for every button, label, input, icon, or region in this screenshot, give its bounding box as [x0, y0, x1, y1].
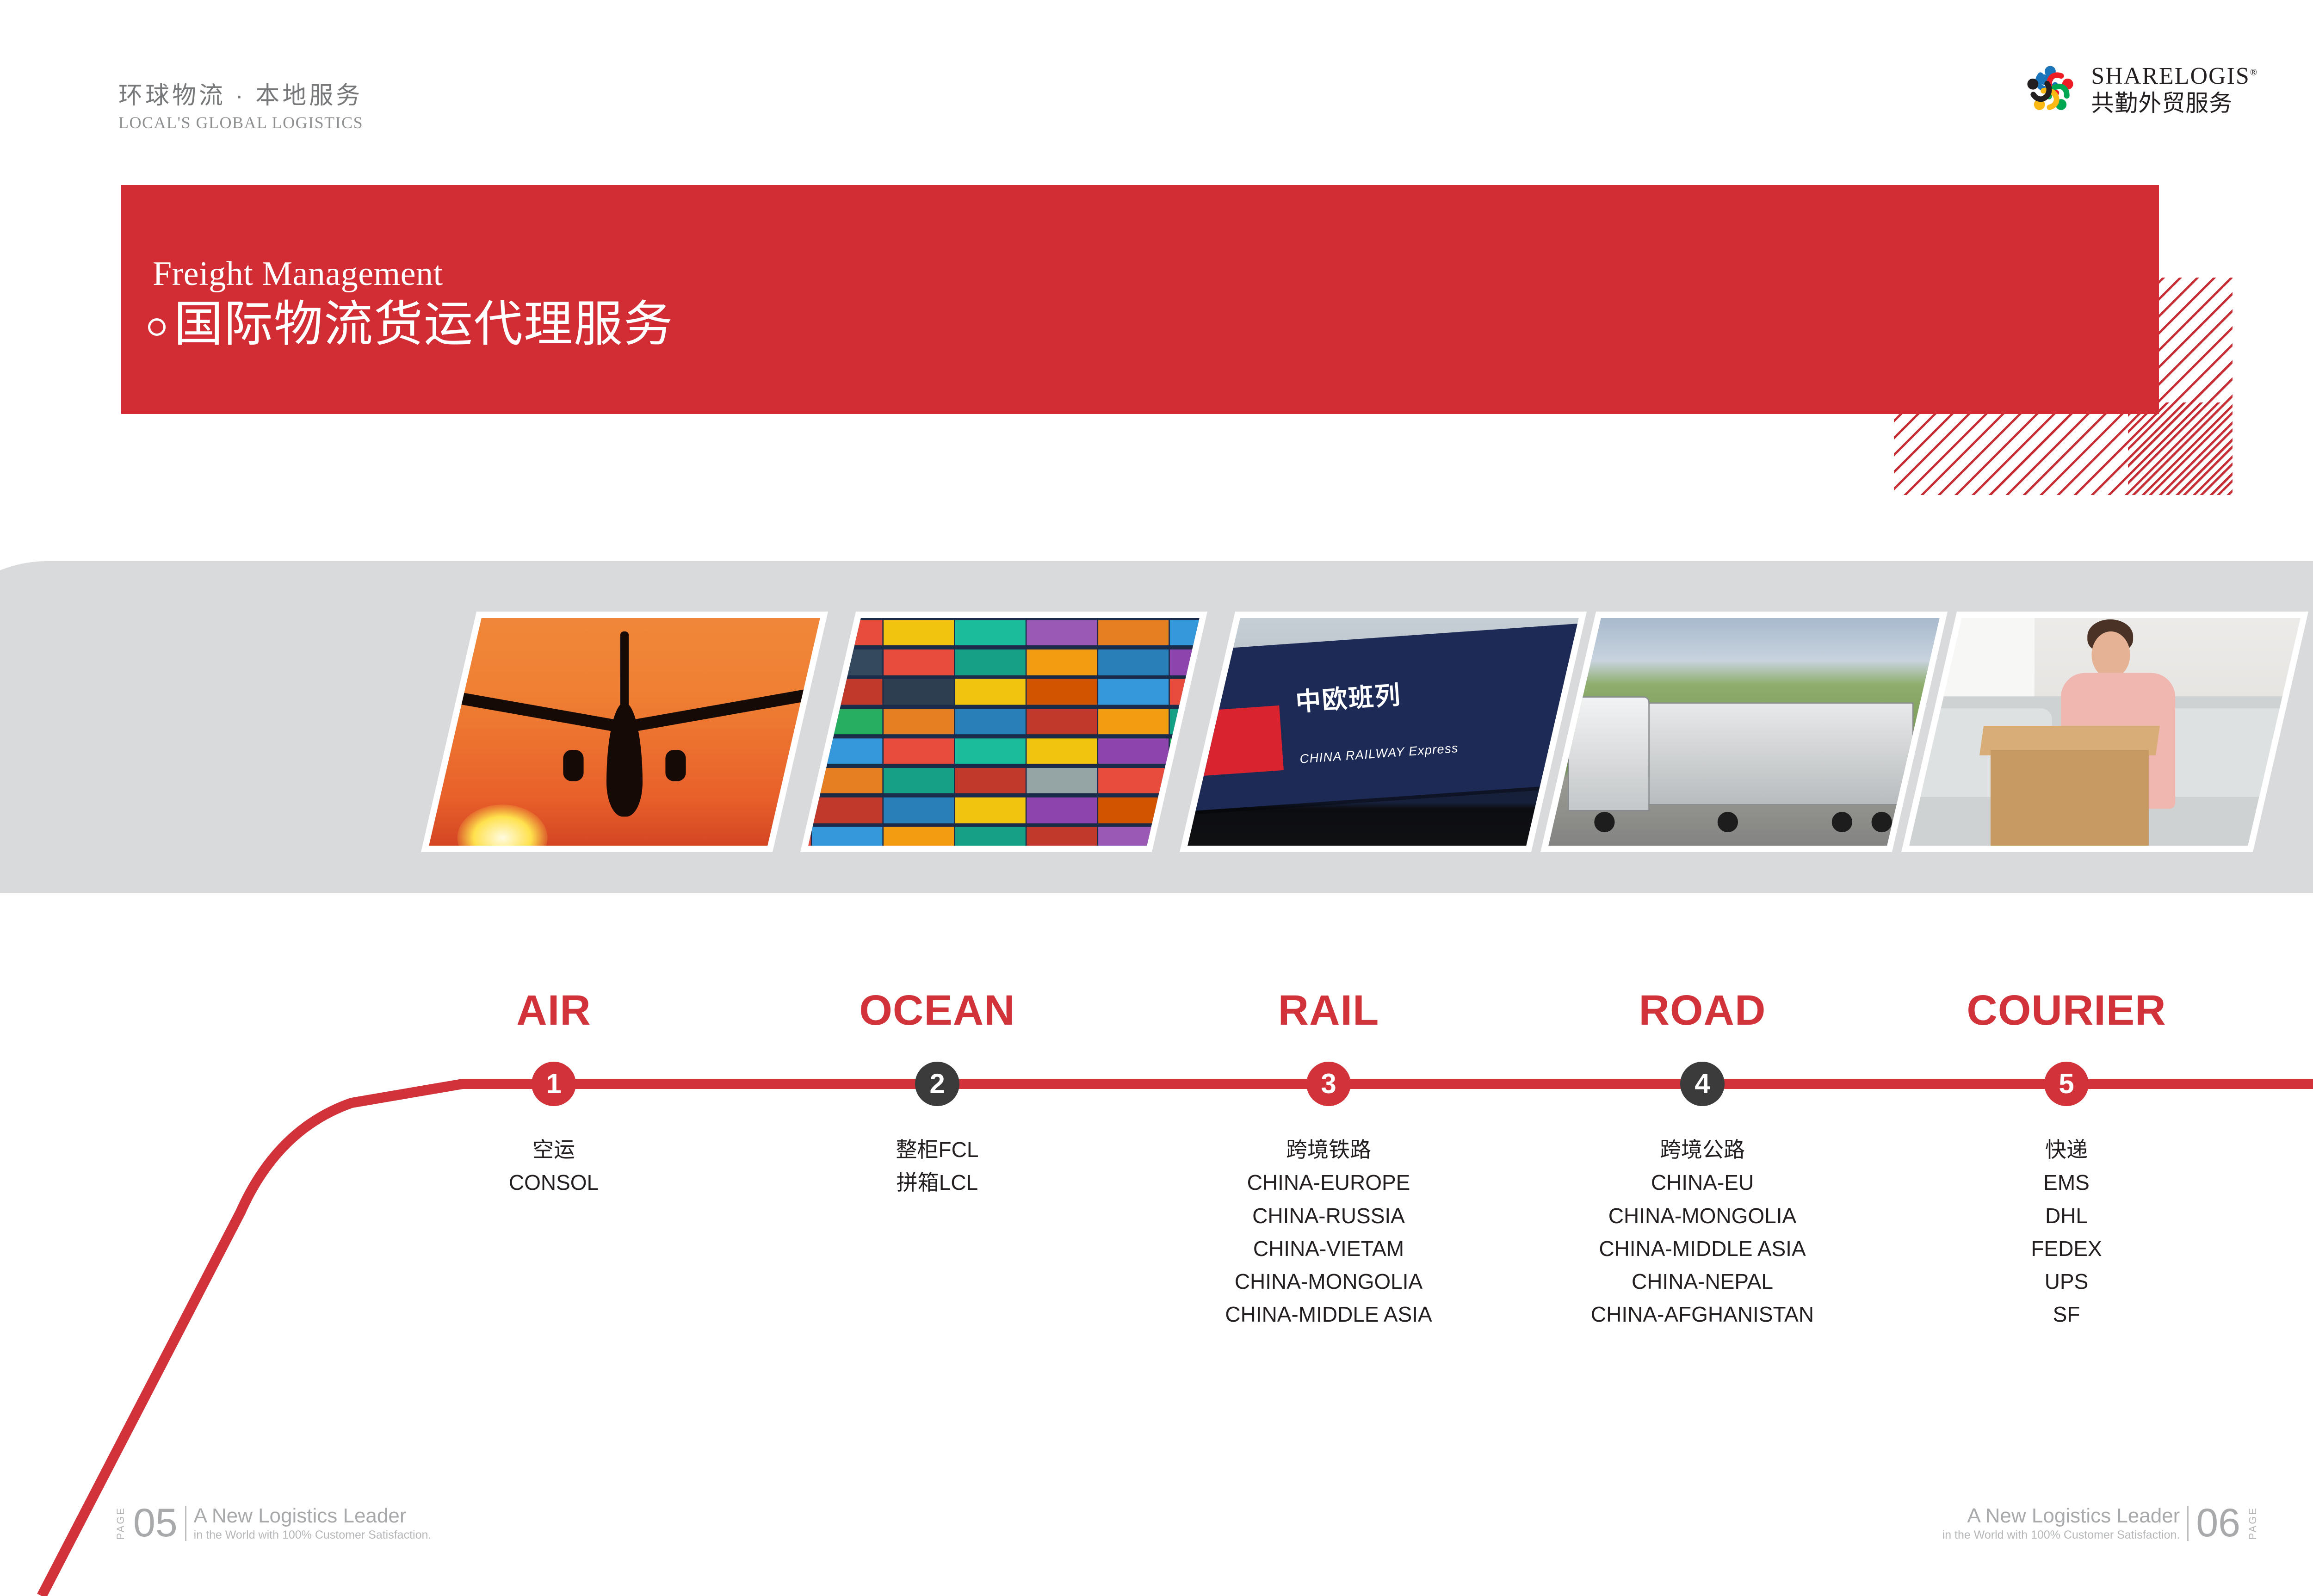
list-item: CONSOL: [509, 1166, 599, 1199]
timeline-dot-number: 4: [1695, 1070, 1710, 1098]
footer-page-number: 05: [133, 1505, 178, 1541]
timeline-label-road: ROAD: [1639, 989, 1766, 1032]
timeline-dot-3[interactable]: 3: [1306, 1062, 1351, 1106]
timeline-label-text: RAIL: [1278, 989, 1379, 1032]
list-item: CHINA-VIETAM: [1225, 1232, 1432, 1265]
people-circle-logo-icon: [2020, 59, 2081, 120]
list-item: CHINA-MIDDLE ASIA: [1591, 1232, 1814, 1265]
company-logo: SHARELOGIS® 共勤外贸服务: [2020, 59, 2258, 120]
list-item: CHINA-EU: [1591, 1166, 1814, 1199]
timeline-items-rail: 跨境铁路 CHINA-EUROPE CHINA-RUSSIA CHINA-VIE…: [1225, 1133, 1432, 1331]
list-item: CHINA-RUSSIA: [1225, 1200, 1432, 1232]
page-title-banner: Freight Management 国际物流货运代理服务: [121, 185, 2159, 414]
list-item: FEDEX: [2031, 1232, 2102, 1265]
list-item: 空运: [509, 1133, 599, 1166]
footer-tagline-primary: A New Logistics Leader: [194, 1505, 432, 1527]
timeline-dot-number: 1: [546, 1070, 561, 1098]
footer-left: PAGE 05 A New Logistics Leader in the Wo…: [116, 1505, 431, 1541]
footer-page-label: PAGE: [2248, 1507, 2258, 1540]
air-freight-photo: [421, 612, 828, 852]
logo-sub-cn: 共勤外贸服务: [2091, 91, 2258, 116]
footer-page-label: PAGE: [116, 1507, 126, 1540]
list-item: UPS: [2031, 1265, 2102, 1298]
banner-eyebrow: Freight Management: [153, 254, 443, 294]
lower-white-panel: [0, 893, 2313, 1540]
list-item: EMS: [2031, 1166, 2102, 1199]
rail-freight-photo: 中欧班列 CHINA RAILWAY Express: [1180, 612, 1587, 852]
rail-photo-cn-text: 中欧班列: [1294, 675, 1402, 719]
timeline-items-courier: 快递 EMS DHL FEDEX UPS SF: [2031, 1133, 2102, 1331]
list-item: 跨境公路: [1591, 1133, 1814, 1166]
list-item: CHINA-MIDDLE ASIA: [1225, 1298, 1432, 1331]
brand-block: 环球物流 · 本地服务 LOCAL'S GLOBAL LOGISTICS: [118, 82, 442, 132]
timeline-dot-5[interactable]: 5: [2044, 1062, 2089, 1106]
logo-wordmark: SHARELOGIS®: [2091, 64, 2258, 88]
footer-tagline-secondary: in the World with 100% Customer Satisfac…: [1942, 1529, 2180, 1542]
courier-photo: [1901, 612, 2308, 852]
timeline-label-text: OCEAN: [859, 989, 1015, 1032]
timeline-label-ocean: OCEAN: [859, 989, 1015, 1032]
logo-wordmark-text: SHARELOGIS: [2091, 63, 2250, 89]
timeline-label-text: COURIER: [1967, 989, 2166, 1032]
footer-right: A New Logistics Leader in the World with…: [1942, 1505, 2258, 1541]
timeline-items-air: 空运 CONSOL: [509, 1133, 599, 1200]
registered-mark-icon: ®: [2250, 67, 2258, 77]
footer-page-number: 06: [2196, 1505, 2240, 1541]
list-item: CHINA-AFGHANISTAN: [1591, 1298, 1814, 1331]
circle-bullet-icon: [148, 318, 166, 336]
list-item: DHL: [2031, 1200, 2102, 1232]
timeline-dot-1[interactable]: 1: [532, 1062, 576, 1106]
timeline-dot-2[interactable]: 2: [915, 1062, 959, 1106]
page-title: 国际物流货运代理服务: [148, 300, 674, 349]
timeline-label-courier: COURIER: [1967, 989, 2166, 1032]
brand-slogan-cn: 环球物流 · 本地服务: [118, 82, 442, 110]
timeline-label-air: AIR: [516, 989, 591, 1032]
timeline-items-road: 跨境公路 CHINA-EU CHINA-MONGOLIA CHINA-MIDDL…: [1591, 1133, 1814, 1331]
list-item: SF: [2031, 1298, 2102, 1331]
brand-slogan-en: LOCAL'S GLOBAL LOGISTICS: [118, 113, 442, 132]
list-item: 拼箱LCL: [896, 1166, 979, 1199]
ocean-freight-photo: [800, 612, 1207, 852]
footer-tagline-secondary: in the World with 100% Customer Satisfac…: [194, 1529, 432, 1542]
footer-divider: [2187, 1506, 2189, 1541]
road-freight-photo: [1540, 612, 1948, 852]
list-item: 整柜FCL: [896, 1133, 979, 1166]
banner-hatch-decoration: [1894, 402, 2233, 495]
timeline-dot-number: 5: [2059, 1070, 2074, 1098]
page-title-text: 国际物流货运代理服务: [174, 300, 674, 349]
list-item: 快递: [2031, 1133, 2102, 1166]
timeline-label-text: AIR: [516, 989, 591, 1032]
timeline-dot-number: 2: [929, 1070, 945, 1098]
list-item: CHINA-NEPAL: [1591, 1265, 1814, 1298]
timeline-dot-4[interactable]: 4: [1680, 1062, 1725, 1106]
footer-divider: [185, 1506, 186, 1541]
footer-tagline-primary: A New Logistics Leader: [1942, 1505, 2180, 1527]
list-item: CHINA-EUROPE: [1225, 1166, 1432, 1199]
timeline-items-ocean: 整柜FCL 拼箱LCL: [896, 1133, 979, 1200]
list-item: CHINA-MONGOLIA: [1225, 1265, 1432, 1298]
timeline-dot-number: 3: [1321, 1070, 1336, 1098]
timeline-label-text: ROAD: [1639, 989, 1766, 1032]
list-item: 跨境铁路: [1225, 1133, 1432, 1166]
list-item: CHINA-MONGOLIA: [1591, 1200, 1814, 1232]
timeline-label-rail: RAIL: [1278, 989, 1379, 1032]
